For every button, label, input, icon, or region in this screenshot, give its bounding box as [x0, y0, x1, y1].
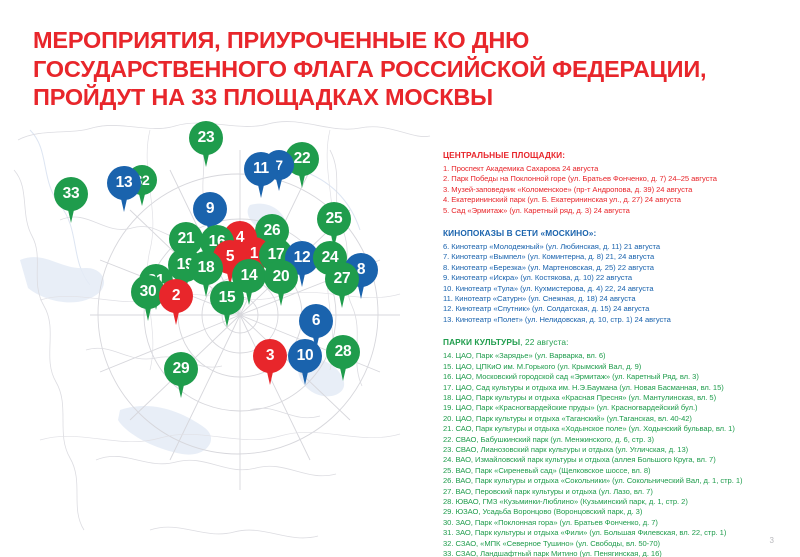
- legend-section-central: ЦЕНТРАЛЬНЫЕ ПЛОЩАДКИ:1. Проспект Академи…: [443, 150, 795, 216]
- map-pin-3[interactable]: 3: [253, 339, 287, 385]
- legend-item: 8. Кинотеатр «Березка» (ул. Мартеновская…: [443, 263, 795, 273]
- pin-number: 13: [107, 166, 141, 200]
- pin-number: 9: [193, 192, 227, 226]
- legend-item: 4. Екатерининский парк (ул. Б. Екатерини…: [443, 195, 795, 205]
- legend-item: 10. Кинотеатр «Тула» (ул. Кухмистерова, …: [443, 284, 795, 294]
- title-line-1: МЕРОПРИЯТИЯ, ПРИУРОЧЕННЫЕ КО ДНЮ: [33, 26, 633, 55]
- legend-item: 7. Кинотеатр «Вымпел» (ул. Коминтерна, д…: [443, 252, 795, 262]
- legend-item: 2. Парк Победы на Поклонной горе (ул. Бр…: [443, 174, 795, 184]
- legend-item: 24. ВАО, Измайловский парк культуры и от…: [443, 455, 795, 465]
- legend-item: 13. Кинотеатр «Полет» (ул. Нелидовская, …: [443, 315, 795, 325]
- legend-heading-text: ЦЕНТРАЛЬНЫЕ ПЛОЩАДКИ:: [443, 150, 565, 160]
- legend-section-parks: ПАРКИ КУЛЬТУРЫ, 22 августа:14. ЦАО, Парк…: [443, 337, 795, 557]
- legend-item: 12. Кинотеатр «Спутник» (ул. Солдатская,…: [443, 304, 795, 314]
- legend-item: 18. ЦАО, Парк культуры и отдыха «Красная…: [443, 393, 795, 403]
- pin-number: 2: [159, 279, 193, 313]
- pin-number: 6: [299, 304, 333, 338]
- map-pin-10[interactable]: 10: [288, 339, 322, 385]
- pin-number: 11: [244, 152, 278, 186]
- map-pin-28[interactable]: 28: [326, 335, 360, 381]
- legend-item: 32. СЗАО, «МПК «Северное Тушино» (ул. Св…: [443, 539, 795, 549]
- legend-item: 30. ЗАО, Парк «Поклонная гора» (ул. Брат…: [443, 518, 795, 528]
- page-title: МЕРОПРИЯТИЯ, ПРИУРОЧЕННЫЕ КО ДНЮ ГОСУДАР…: [33, 26, 633, 112]
- legend: ЦЕНТРАЛЬНЫЕ ПЛОЩАДКИ:1. Проспект Академи…: [443, 150, 795, 557]
- legend-item: 17. ЦАО, Сад культуры и отдыха им. Н.Э.Б…: [443, 383, 795, 393]
- legend-item: 6. Кинотеатр «Молодежный» (ул. Любинская…: [443, 242, 795, 252]
- pin-number: 18: [189, 251, 223, 285]
- legend-item: 26. ВАО, Парк культуры и отдыха «Сокольн…: [443, 476, 795, 486]
- pin-number: 10: [288, 339, 322, 373]
- legend-list-cinema: 6. Кинотеатр «Молодежный» (ул. Любинская…: [443, 242, 795, 325]
- map-pin-27[interactable]: 27: [325, 262, 359, 308]
- legend-item: 20. ЦАО, Парк культуры и отдыха «Таганск…: [443, 414, 795, 424]
- legend-item: 28. ЮВАО, ГМЗ «Кузьминки-Люблино» (Кузьм…: [443, 497, 795, 507]
- pin-number: 27: [325, 262, 359, 296]
- pin-number: 33: [54, 177, 88, 211]
- pin-number: 23: [189, 121, 223, 155]
- legend-item: 11. Кинотеатр «Сатурн» (ул. Снежная, д. …: [443, 294, 795, 304]
- map-pin-20[interactable]: 20: [264, 260, 298, 306]
- legend-heading-text: ПАРКИ КУЛЬТУРЫ: [443, 337, 520, 347]
- page-number: 3: [770, 536, 774, 545]
- legend-item: 29. ЮЗАО, Усадьба Воронцово (Воронцовски…: [443, 507, 795, 517]
- legend-item: 25. ВАО, Парк «Сиреневый сад» (Щелковско…: [443, 466, 795, 476]
- legend-item: 23. СВАО, Лианозовский парк культуры и о…: [443, 445, 795, 455]
- pin-number: 20: [264, 260, 298, 294]
- map-pin-23[interactable]: 23: [189, 121, 223, 167]
- legend-item: 22. СВАО, Бабушкинский парк (ул. Менжинс…: [443, 435, 795, 445]
- legend-section-heading-parks: ПАРКИ КУЛЬТУРЫ, 22 августа:: [443, 337, 795, 348]
- legend-item: 1. Проспект Академика Сахарова 24 август…: [443, 164, 795, 174]
- legend-item: 15. ЦАО, ЦПКиО им. М.Горького (ул. Крымс…: [443, 362, 795, 372]
- moscow-map[interactable]: 2332133311722925211642619511712243118142…: [0, 110, 440, 557]
- pin-number: 15: [210, 281, 244, 315]
- legend-list-central: 1. Проспект Академика Сахарова 24 август…: [443, 164, 795, 216]
- pin-number: 3: [253, 339, 287, 373]
- title-line-2: ГОСУДАРСТВЕННОГО ФЛАГА РОССИЙСКОЙ ФЕДЕРА…: [33, 55, 633, 84]
- legend-item: 31. ЗАО, Парк культуры и отдыха «Фили» (…: [443, 528, 795, 538]
- pin-number: 28: [326, 335, 360, 369]
- legend-item: 19. ЦАО, Парк «Красногвардейские пруды» …: [443, 403, 795, 413]
- legend-heading-date: , 22 августа:: [520, 337, 568, 347]
- infographic-page: МЕРОПРИЯТИЯ, ПРИУРОЧЕННЫЕ КО ДНЮ ГОСУДАР…: [0, 0, 800, 557]
- map-pin-2[interactable]: 2: [159, 279, 193, 325]
- map-pin-33[interactable]: 33: [54, 177, 88, 223]
- title-line-3: ПРОЙДУТ НА 33 ПЛОЩАДКАХ МОСКВЫ: [33, 83, 633, 112]
- legend-heading-text: КИНОПОКАЗЫ В СЕТИ «МОСКИНО»:: [443, 228, 596, 238]
- legend-item: 3. Музей-заповедник «Коломенское» (пр-т …: [443, 185, 795, 195]
- legend-item: 14. ЦАО, Парк «Зарядье» (ул. Варварка, в…: [443, 351, 795, 361]
- pin-number: 29: [164, 352, 198, 386]
- map-pin-13[interactable]: 13: [107, 166, 141, 212]
- legend-item: 9. Кинотеатр «Искра» (ул. Костякова, д. …: [443, 273, 795, 283]
- map-pin-15[interactable]: 15: [210, 281, 244, 327]
- legend-section-heading-cinema: КИНОПОКАЗЫ В СЕТИ «МОСКИНО»:: [443, 228, 795, 239]
- legend-item: 27. ВАО, Перовский парк культуры и отдых…: [443, 487, 795, 497]
- legend-item: 33. СЗАО, Ландшафтный парк Митино (ул. П…: [443, 549, 795, 557]
- legend-section-heading-central: ЦЕНТРАЛЬНЫЕ ПЛОЩАДКИ:: [443, 150, 795, 161]
- map-pin-29[interactable]: 29: [164, 352, 198, 398]
- legend-list-parks: 14. ЦАО, Парк «Зарядье» (ул. Варварка, в…: [443, 351, 795, 557]
- legend-item: 16. ЦАО, Московский городской сад «Эрмит…: [443, 372, 795, 382]
- legend-section-cinema: КИНОПОКАЗЫ В СЕТИ «МОСКИНО»:6. Кинотеатр…: [443, 228, 795, 325]
- legend-item: 5. Сад «Эрмитаж» (ул. Каретный ряд, д. 3…: [443, 206, 795, 216]
- legend-item: 21. САО, Парк культуры и отдыха «Ходынск…: [443, 424, 795, 434]
- map-pin-11[interactable]: 11: [244, 152, 278, 198]
- pin-number: 25: [317, 202, 351, 236]
